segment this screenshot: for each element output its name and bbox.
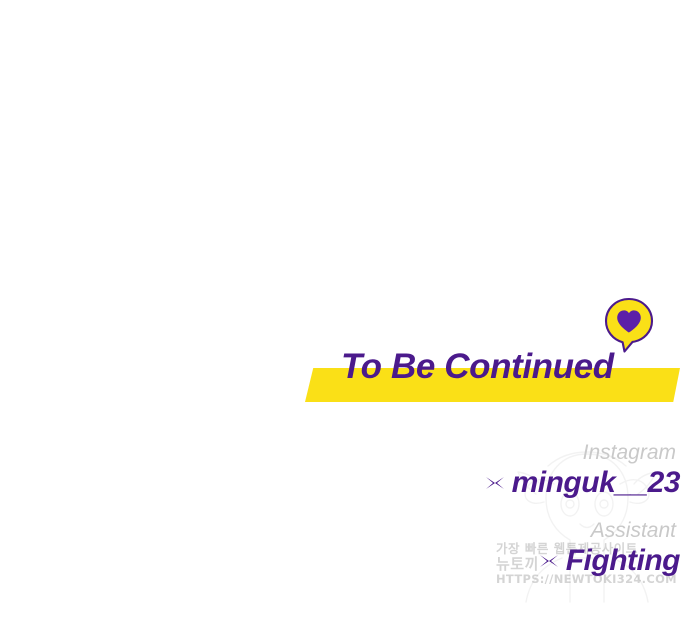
credit-assistant: Assistant Fighting [430, 518, 680, 578]
credit-label-instagram: Instagram [430, 440, 680, 466]
comic-end-page: 가장 빠른 웹툰제공사이트 뉴토끼 HTTPS://NEWTOKI324.COM… [0, 0, 690, 622]
cross-star-icon [538, 550, 560, 572]
credit-value-row-assistant: Fighting [430, 544, 680, 578]
cross-star-icon [484, 472, 506, 494]
credit-value-row-instagram: minguk__23 [430, 466, 680, 500]
credits-spacer [430, 500, 680, 518]
to-be-continued-text: To Be Continued [341, 349, 614, 385]
credit-label-assistant: Assistant [430, 518, 680, 544]
credit-value-assistant: Fighting [566, 544, 680, 578]
credits-block: Instagram minguk__23 Assistant Fighting [430, 440, 680, 578]
heart-speech-bubble-icon [604, 297, 654, 353]
credit-instagram: Instagram minguk__23 [430, 440, 680, 500]
credit-value-instagram: minguk__23 [512, 466, 680, 500]
